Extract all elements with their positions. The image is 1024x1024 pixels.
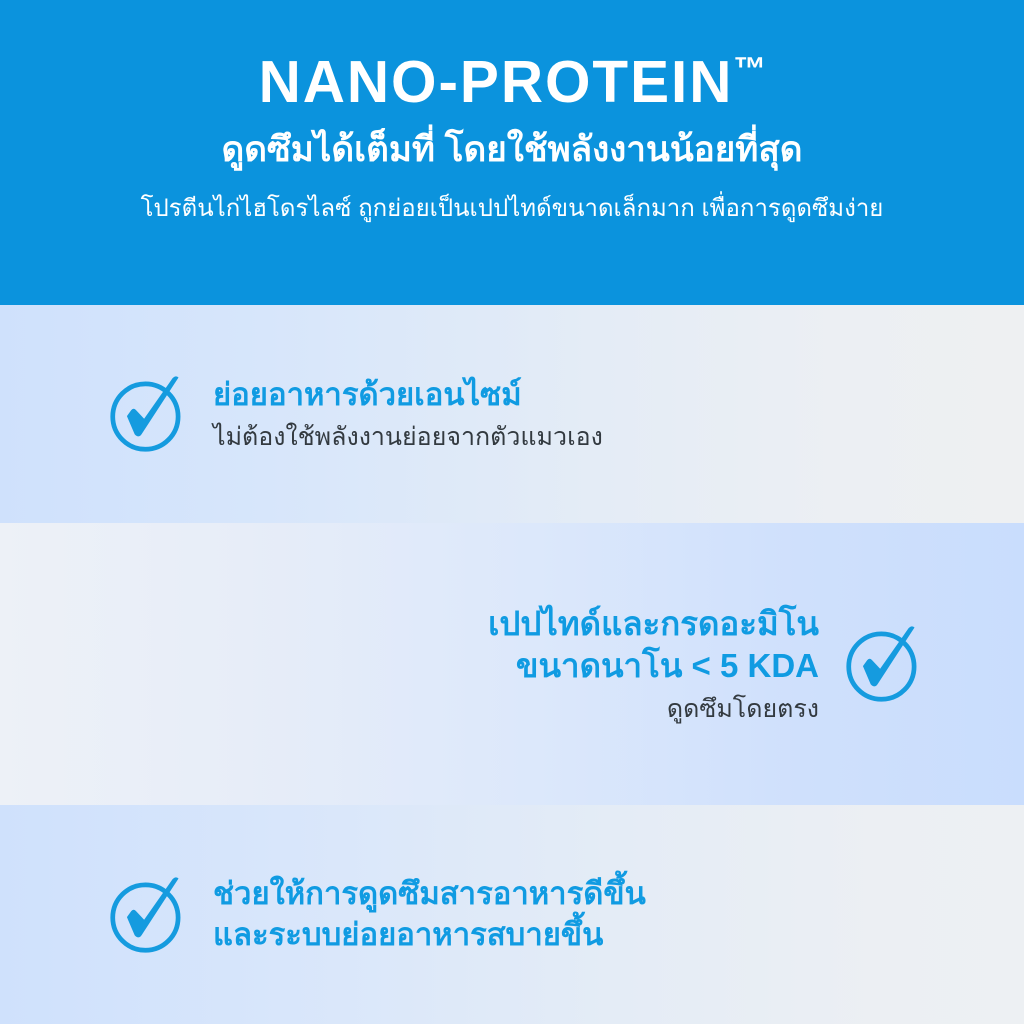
feature-heading-line-2: และระบบย่อยอาหารสบายขึ้น: [213, 915, 603, 956]
trademark-symbol: ™: [733, 50, 766, 87]
check-circle-icon: [105, 371, 191, 457]
feature-row-enzyme-digestion: ย่อยอาหารด้วยเอนไซม์ ไม่ต้องใช้พลังงานย่…: [0, 305, 1024, 523]
header-banner: NANO-PROTEIN™ ดูดซึมได้เต็มที่ โดยใช้พลั…: [0, 0, 1024, 305]
feature-heading-line-1: เปปไทด์และกรดอะมิโน: [488, 603, 819, 645]
feature-heading-line-1: ช่วยให้การดูดซึมสารอาหารดีขึ้น: [213, 874, 646, 915]
feature-subtext: ไม่ต้องใช้พลังงานย่อยจากตัวแมวเอง: [213, 421, 603, 454]
header-subtitle: ดูดซึมได้เต็มที่ โดยใช้พลังงานน้อยที่สุด: [222, 129, 803, 172]
feature-row-better-absorption: ช่วยให้การดูดซึมสารอาหารดีขึ้น และระบบย่…: [0, 805, 1024, 1024]
feature-heading: ย่อยอาหารด้วยเอนไซม์: [213, 375, 522, 415]
feature-text-block: ย่อยอาหารด้วยเอนไซม์ ไม่ต้องใช้พลังงานย่…: [213, 375, 603, 454]
header-caption: โปรตีนไก่ไฮโดรไลซ์ ถูกย่อยเป็นเปปไทด์ขนา…: [141, 194, 884, 224]
feature-row-nano-peptide: เปปไทด์และกรดอะมิโน ขนาดนาโน < 5 KDA ดูด…: [0, 523, 1024, 805]
feature-text-block: เปปไทด์และกรดอะมิโน ขนาดนาโน < 5 KDA ดูด…: [488, 603, 819, 726]
infographic-poster: NANO-PROTEIN™ ดูดซึมได้เต็มที่ โดยใช้พลั…: [0, 0, 1024, 1024]
check-circle-icon: [841, 621, 927, 707]
page-title: NANO-PROTEIN™: [258, 52, 765, 112]
feature-heading-line-2: ขนาดนาโน < 5 KDA: [516, 645, 819, 687]
brand-name: NANO-PROTEIN: [258, 49, 733, 115]
feature-text-block: ช่วยให้การดูดซึมสารอาหารดีขึ้น และระบบย่…: [213, 874, 646, 956]
check-circle-icon: [105, 872, 191, 958]
feature-subtext: ดูดซึมโดยตรง: [667, 693, 819, 726]
